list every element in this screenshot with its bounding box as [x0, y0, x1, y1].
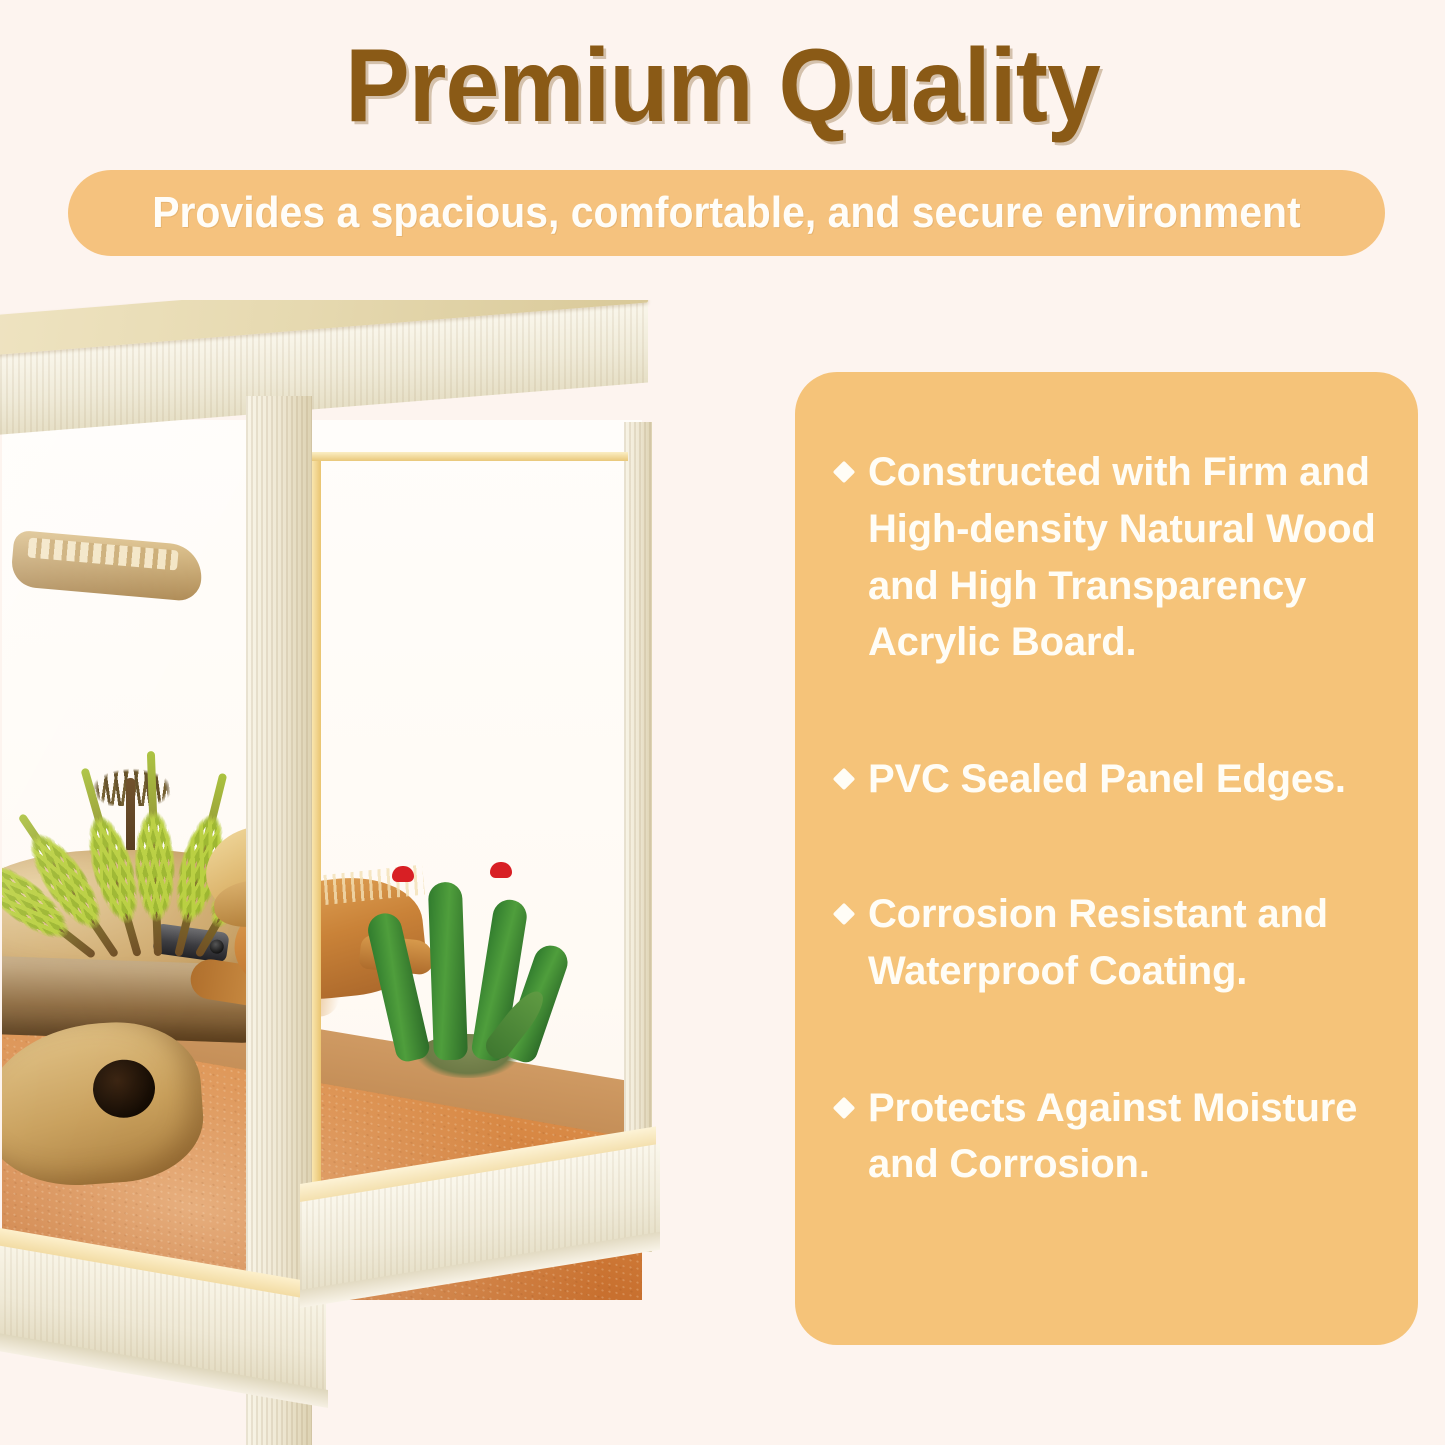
- wooden-terrarium-illustration: [0, 300, 700, 1445]
- diamond-bullet-icon: [833, 768, 856, 791]
- subtitle-text: Provides a spacious, comfortable, and se…: [152, 188, 1300, 238]
- feature-item: PVC Sealed Panel Edges.: [828, 751, 1386, 808]
- cactus-plant: [382, 848, 552, 1078]
- cactus-flower: [392, 866, 414, 882]
- skull-eye-socket: [91, 1058, 157, 1120]
- diamond-bullet-icon: [833, 1096, 856, 1119]
- feature-item: Constructed with Firm and High-density N…: [828, 444, 1386, 671]
- feature-text: Corrosion Resistant and Waterproof Coati…: [868, 886, 1386, 1000]
- cactus-flower: [490, 862, 512, 878]
- feature-text: Protects Against Moisture and Corrosion.: [868, 1080, 1386, 1194]
- subtitle-banner: Provides a spacious, comfortable, and se…: [68, 170, 1385, 256]
- feature-panel: Constructed with Firm and High-density N…: [795, 372, 1418, 1345]
- frame-trim-horizontal: [312, 452, 628, 461]
- feature-item: Corrosion Resistant and Waterproof Coati…: [828, 886, 1386, 1000]
- feature-item: Protects Against Moisture and Corrosion.: [828, 1080, 1386, 1194]
- feature-text: Constructed with Firm and High-density N…: [868, 444, 1386, 671]
- frame-trim-vertical: [312, 460, 321, 1200]
- feature-text: PVC Sealed Panel Edges.: [868, 751, 1386, 808]
- diamond-bullet-icon: [833, 903, 856, 926]
- cactus-pad: [428, 882, 468, 1061]
- page-title: Premium Quality: [51, 34, 1395, 138]
- diamond-bullet-icon: [833, 461, 856, 484]
- product-photo: [0, 300, 700, 1445]
